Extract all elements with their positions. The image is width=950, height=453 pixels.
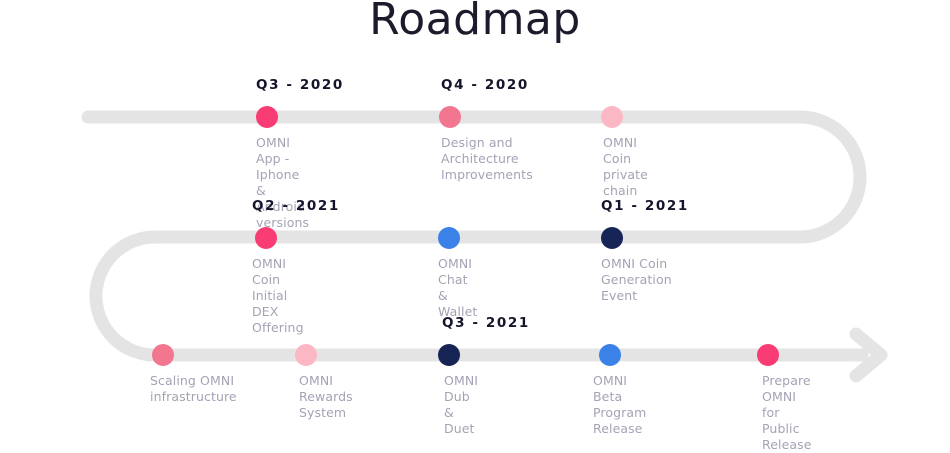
milestone-dot[interactable]	[295, 344, 317, 366]
milestone-dot[interactable]	[599, 344, 621, 366]
milestone-description: OMNI Coin private chain	[603, 135, 648, 199]
roadmap-infographic: Roadmap Q3 - 2020 OMNI App - Iphone & An…	[0, 0, 950, 430]
milestone-description: OMNI Chat & Wallet	[438, 256, 477, 320]
milestone-description: Design and Architecture Improvements	[441, 135, 533, 183]
milestone-description: OMNI Beta Program Release	[593, 373, 646, 437]
milestone-dot[interactable]	[255, 227, 277, 249]
milestone-description: OMNI Coin Initial DEX Offering	[252, 256, 304, 336]
milestone-description: OMNI Rewards System	[299, 373, 353, 421]
milestone-quarter: Q4 - 2020	[441, 77, 529, 93]
milestone-description: Scaling OMNI infrastructure	[150, 373, 237, 405]
milestone-dot[interactable]	[601, 106, 623, 128]
arrow-head-icon	[856, 334, 881, 376]
milestone-description: OMNI Dub & Duet	[444, 373, 478, 437]
milestone-quarter: Q1 - 2021	[601, 198, 689, 214]
milestone-dot[interactable]	[152, 344, 174, 366]
milestone-dot[interactable]	[438, 344, 460, 366]
milestone-dot[interactable]	[601, 227, 623, 249]
milestone-quarter: Q2 - 2021	[252, 198, 340, 214]
milestone-dot[interactable]	[438, 227, 460, 249]
milestone-dot[interactable]	[439, 106, 461, 128]
milestone-description: OMNI Coin Generation Event	[601, 256, 672, 304]
milestone-dot[interactable]	[256, 106, 278, 128]
milestone-quarter: Q3 - 2020	[256, 77, 344, 93]
timeline-track	[0, 0, 950, 430]
page-title: Roadmap	[0, 0, 950, 45]
milestone-description: OMNI App - Iphone & Android versions	[256, 135, 309, 231]
milestone-dot[interactable]	[757, 344, 779, 366]
milestone-description: Prepare OMNI for Public Release	[762, 373, 812, 453]
milestone-quarter: Q3 - 2021	[442, 315, 530, 331]
